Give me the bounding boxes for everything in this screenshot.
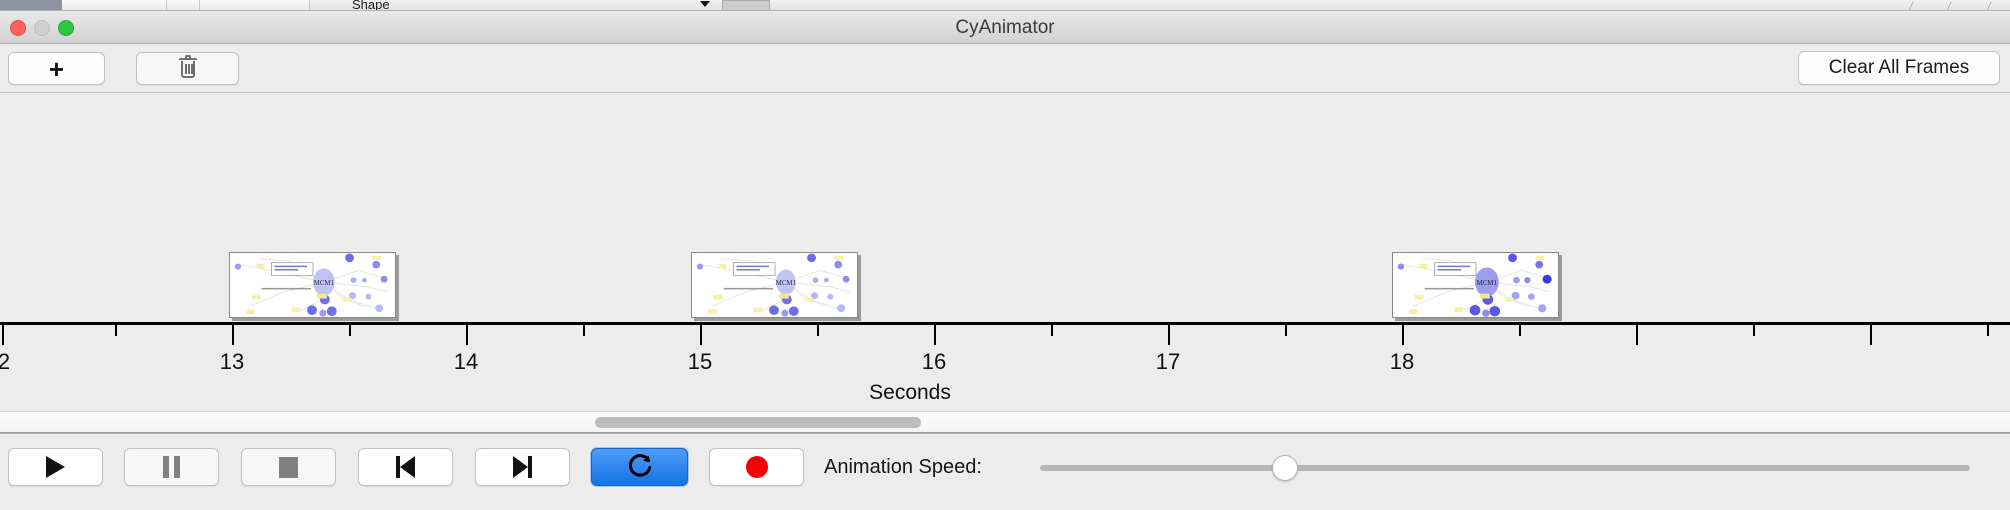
background-divider (1907, 1, 1913, 11)
ruler-tick-minor (349, 325, 351, 336)
ruler-tick-major (934, 325, 936, 345)
ruler-tick-minor (1519, 325, 1521, 336)
ruler-label: 14 (454, 349, 478, 375)
play-button[interactable] (8, 448, 103, 486)
scrollbar-thumb[interactable] (595, 417, 921, 428)
background-field (722, 0, 770, 11)
ruler-label: 13 (220, 349, 244, 375)
animation-speed-slider-track[interactable] (1040, 465, 1970, 471)
clear-all-frames-label: Clear All Frames (1829, 57, 1969, 79)
frame-thumbnail[interactable]: MCM1 (691, 252, 858, 318)
background-window-strip: Shape (0, 0, 2010, 11)
horizontal-scrollbar[interactable] (0, 411, 2010, 433)
ruler-tick-major (1636, 325, 1638, 345)
stop-icon (279, 457, 298, 478)
ruler-tick-minor (115, 325, 117, 336)
ruler-tick-minor (1051, 325, 1053, 336)
trash-icon (179, 58, 197, 79)
ruler-tick-major (2, 325, 4, 345)
play-icon (46, 456, 65, 478)
ruler-label: 17 (1156, 349, 1180, 375)
ruler-tick-major (1870, 325, 1872, 345)
pause-button[interactable] (124, 448, 219, 486)
window-title: CyAnimator (0, 11, 2010, 44)
timeline-ruler-baseline (0, 322, 2010, 325)
ruler-label: 18 (1390, 349, 1414, 375)
ruler-label: 15 (688, 349, 712, 375)
ruler-tick-minor (583, 325, 585, 336)
background-tab (167, 0, 200, 11)
network-thumbnail-icon: MCM1 (692, 253, 857, 317)
ruler-label: 16 (922, 349, 946, 375)
add-frame-button[interactable]: + (8, 52, 105, 85)
record-button[interactable] (709, 448, 804, 486)
stop-button[interactable] (241, 448, 336, 486)
toolbar: + Clear All Frames (0, 44, 2010, 93)
ruler-tick-major (700, 325, 702, 345)
svg-text:MCM1: MCM1 (776, 280, 797, 287)
network-thumbnail-icon: MCM1 (230, 253, 395, 317)
pause-icon (163, 456, 180, 478)
animation-speed-slider-thumb[interactable] (1272, 455, 1298, 481)
playback-control-bar: Animation Speed: (0, 433, 2010, 509)
delete-frame-button[interactable] (136, 52, 239, 85)
background-selected-tab (0, 0, 62, 10)
loop-button[interactable] (591, 448, 688, 486)
ruler-tick-major (466, 325, 468, 345)
timeline-panel[interactable]: MCM1 (0, 93, 2010, 411)
network-thumbnail-icon: MCM1 (1393, 253, 1558, 317)
animation-speed-label: Animation Speed: (824, 456, 982, 479)
background-caret-icon (700, 1, 710, 7)
title-bar: CyAnimator (0, 11, 2010, 44)
ruler-label: 2 (0, 349, 10, 375)
loop-icon (627, 454, 653, 480)
skip-forward-button[interactable] (475, 448, 570, 486)
ruler-tick-major (232, 325, 234, 345)
cyanimator-window: CyAnimator + Clear All Frames (0, 11, 2010, 510)
svg-text:MCM1: MCM1 (1477, 280, 1498, 287)
clear-all-frames-button[interactable]: Clear All Frames (1798, 51, 2000, 85)
ruler-tick-minor (1987, 325, 1989, 336)
timeline-axis-title: Seconds (869, 381, 951, 405)
ruler-tick-minor (1753, 325, 1755, 336)
ruler-tick-minor (1285, 325, 1287, 336)
record-icon (746, 456, 768, 478)
background-window-label: Shape (352, 0, 390, 11)
skip-forward-icon (513, 456, 532, 478)
skip-backward-button[interactable] (358, 448, 453, 486)
frame-thumbnail[interactable]: MCM1 (1392, 252, 1559, 318)
ruler-tick-major (1402, 325, 1404, 345)
ruler-tick-major (1168, 325, 1170, 345)
background-tab (62, 0, 167, 11)
background-divider (1985, 1, 1991, 11)
background-tab (200, 0, 310, 11)
ruler-tick-minor (817, 325, 819, 336)
plus-icon: + (49, 56, 64, 82)
frame-thumbnail[interactable]: MCM1 (229, 252, 396, 318)
background-divider (1945, 1, 1951, 11)
svg-text:MCM1: MCM1 (314, 280, 335, 287)
skip-backward-icon (396, 456, 415, 478)
